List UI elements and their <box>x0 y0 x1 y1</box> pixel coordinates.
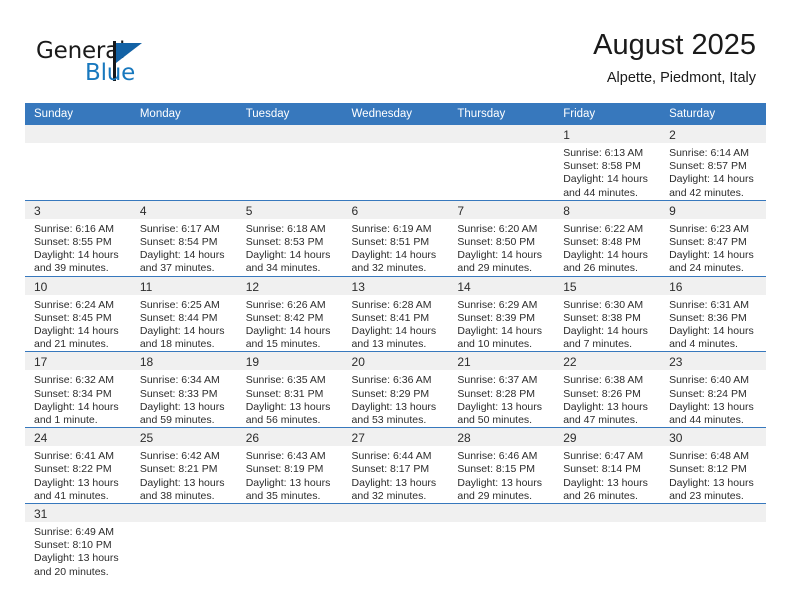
sunrise-text: Sunrise: 6:41 AM <box>34 450 125 463</box>
day-details: Sunrise: 6:14 AMSunset: 8:57 PMDaylight:… <box>660 143 766 200</box>
sunset-text: Sunset: 8:33 PM <box>140 388 231 401</box>
day-number <box>25 125 131 143</box>
day-number: 20 <box>343 352 449 370</box>
day-number: 22 <box>554 352 660 370</box>
calendar-week-row: 10Sunrise: 6:24 AMSunset: 8:45 PMDayligh… <box>25 276 766 352</box>
day-number: 8 <box>554 201 660 219</box>
calendar-week-row: 31Sunrise: 6:49 AMSunset: 8:10 PMDayligh… <box>25 504 766 579</box>
day-details: Sunrise: 6:36 AMSunset: 8:29 PMDaylight:… <box>343 370 449 427</box>
daylight-text-line2: and 32 minutes. <box>352 262 443 275</box>
sunset-text: Sunset: 8:22 PM <box>34 463 125 476</box>
daylight-text-line2: and 39 minutes. <box>34 262 125 275</box>
daylight-text-line1: Daylight: 14 hours <box>34 325 125 338</box>
daylight-text-line2: and 44 minutes. <box>669 414 760 427</box>
day-details: Sunrise: 6:42 AMSunset: 8:21 PMDaylight:… <box>131 446 237 503</box>
sunset-text: Sunset: 8:47 PM <box>669 236 760 249</box>
sunset-text: Sunset: 8:19 PM <box>246 463 337 476</box>
day-details: Sunrise: 6:34 AMSunset: 8:33 PMDaylight:… <box>131 370 237 427</box>
calendar-cell-day[interactable]: 27Sunrise: 6:44 AMSunset: 8:17 PMDayligh… <box>343 428 449 504</box>
day-number <box>343 504 449 522</box>
sunset-text: Sunset: 8:55 PM <box>34 236 125 249</box>
daylight-text-line1: Daylight: 14 hours <box>563 249 654 262</box>
weekday-header-wednesday: Wednesday <box>343 103 449 125</box>
day-number: 2 <box>660 125 766 143</box>
daylight-text-line2: and 13 minutes. <box>352 338 443 351</box>
sunrise-text: Sunrise: 6:38 AM <box>563 374 654 387</box>
daylight-text-line1: Daylight: 14 hours <box>34 249 125 262</box>
calendar-cell-empty <box>554 504 660 579</box>
day-number: 21 <box>448 352 554 370</box>
day-number: 10 <box>25 277 131 295</box>
daylight-text-line2: and 10 minutes. <box>457 338 548 351</box>
daylight-text-line1: Daylight: 13 hours <box>140 477 231 490</box>
daylight-text-line1: Daylight: 13 hours <box>563 401 654 414</box>
calendar-cell-day[interactable]: 29Sunrise: 6:47 AMSunset: 8:14 PMDayligh… <box>554 428 660 504</box>
sunrise-text: Sunrise: 6:37 AM <box>457 374 548 387</box>
calendar-cell-empty <box>131 504 237 579</box>
day-number: 25 <box>131 428 237 446</box>
day-details: Sunrise: 6:17 AMSunset: 8:54 PMDaylight:… <box>131 219 237 276</box>
day-details: Sunrise: 6:35 AMSunset: 8:31 PMDaylight:… <box>237 370 343 427</box>
calendar-cell-day[interactable]: 31Sunrise: 6:49 AMSunset: 8:10 PMDayligh… <box>25 504 131 579</box>
day-details: Sunrise: 6:29 AMSunset: 8:39 PMDaylight:… <box>448 295 554 352</box>
day-number: 14 <box>448 277 554 295</box>
daylight-text-line1: Daylight: 14 hours <box>457 325 548 338</box>
sunset-text: Sunset: 8:54 PM <box>140 236 231 249</box>
day-details: Sunrise: 6:26 AMSunset: 8:42 PMDaylight:… <box>237 295 343 352</box>
sunrise-text: Sunrise: 6:14 AM <box>669 147 760 160</box>
daylight-text-line2: and 15 minutes. <box>246 338 337 351</box>
day-details: Sunrise: 6:43 AMSunset: 8:19 PMDaylight:… <box>237 446 343 503</box>
day-details: Sunrise: 6:23 AMSunset: 8:47 PMDaylight:… <box>660 219 766 276</box>
daylight-text-line2: and 53 minutes. <box>352 414 443 427</box>
weekday-header-row: Sunday Monday Tuesday Wednesday Thursday… <box>25 103 766 125</box>
sunrise-text: Sunrise: 6:22 AM <box>563 223 654 236</box>
calendar-week-row: 24Sunrise: 6:41 AMSunset: 8:22 PMDayligh… <box>25 428 766 504</box>
sunrise-text: Sunrise: 6:31 AM <box>669 299 760 312</box>
sunrise-text: Sunrise: 6:43 AM <box>246 450 337 463</box>
day-details: Sunrise: 6:16 AMSunset: 8:55 PMDaylight:… <box>25 219 131 276</box>
day-details: Sunrise: 6:46 AMSunset: 8:15 PMDaylight:… <box>448 446 554 503</box>
calendar-week-row: 1Sunrise: 6:13 AMSunset: 8:58 PMDaylight… <box>25 125 766 200</box>
calendar-week-row: 17Sunrise: 6:32 AMSunset: 8:34 PMDayligh… <box>25 352 766 428</box>
calendar-cell-day[interactable]: 24Sunrise: 6:41 AMSunset: 8:22 PMDayligh… <box>25 428 131 504</box>
daylight-text-line2: and 35 minutes. <box>246 490 337 503</box>
calendar-cell-day[interactable]: 4Sunrise: 6:17 AMSunset: 8:54 PMDaylight… <box>131 200 237 276</box>
sunset-text: Sunset: 8:12 PM <box>669 463 760 476</box>
daylight-text-line1: Daylight: 14 hours <box>563 325 654 338</box>
day-details: Sunrise: 6:32 AMSunset: 8:34 PMDaylight:… <box>25 370 131 427</box>
calendar-cell-day[interactable]: 2Sunrise: 6:14 AMSunset: 8:57 PMDaylight… <box>660 125 766 200</box>
sunset-text: Sunset: 8:15 PM <box>457 463 548 476</box>
calendar-cell-empty <box>660 504 766 579</box>
sunset-text: Sunset: 8:51 PM <box>352 236 443 249</box>
weekday-header-tuesday: Tuesday <box>237 103 343 125</box>
calendar-week-row: 3Sunrise: 6:16 AMSunset: 8:55 PMDaylight… <box>25 200 766 276</box>
calendar-head: Sunday Monday Tuesday Wednesday Thursday… <box>25 103 766 125</box>
daylight-text-line2: and 34 minutes. <box>246 262 337 275</box>
sunset-text: Sunset: 8:34 PM <box>34 388 125 401</box>
sunset-text: Sunset: 8:28 PM <box>457 388 548 401</box>
daylight-text-line1: Daylight: 13 hours <box>246 477 337 490</box>
day-number: 17 <box>25 352 131 370</box>
day-number: 24 <box>25 428 131 446</box>
day-number: 12 <box>237 277 343 295</box>
daylight-text-line2: and 23 minutes. <box>669 490 760 503</box>
sunrise-text: Sunrise: 6:40 AM <box>669 374 760 387</box>
daylight-text-line1: Daylight: 14 hours <box>669 325 760 338</box>
calendar-cell-day[interactable]: 5Sunrise: 6:18 AMSunset: 8:53 PMDaylight… <box>237 200 343 276</box>
sunrise-text: Sunrise: 6:46 AM <box>457 450 548 463</box>
day-number: 27 <box>343 428 449 446</box>
weekday-header-monday: Monday <box>131 103 237 125</box>
day-number: 9 <box>660 201 766 219</box>
day-details: Sunrise: 6:28 AMSunset: 8:41 PMDaylight:… <box>343 295 449 352</box>
daylight-text-line1: Daylight: 13 hours <box>669 401 760 414</box>
sunrise-text: Sunrise: 6:36 AM <box>352 374 443 387</box>
daylight-text-line2: and 38 minutes. <box>140 490 231 503</box>
daylight-text-line2: and 32 minutes. <box>352 490 443 503</box>
day-number: 4 <box>131 201 237 219</box>
sunset-text: Sunset: 8:14 PM <box>563 463 654 476</box>
sunrise-text: Sunrise: 6:24 AM <box>34 299 125 312</box>
calendar-cell-day[interactable]: 20Sunrise: 6:36 AMSunset: 8:29 PMDayligh… <box>343 352 449 428</box>
sunrise-text: Sunrise: 6:26 AM <box>246 299 337 312</box>
day-number: 11 <box>131 277 237 295</box>
calendar-cell-day[interactable]: 30Sunrise: 6:48 AMSunset: 8:12 PMDayligh… <box>660 428 766 504</box>
daylight-text-line1: Daylight: 14 hours <box>457 249 548 262</box>
sunrise-text: Sunrise: 6:28 AM <box>352 299 443 312</box>
daylight-text-line2: and 7 minutes. <box>563 338 654 351</box>
daylight-text-line2: and 24 minutes. <box>669 262 760 275</box>
day-details: Sunrise: 6:44 AMSunset: 8:17 PMDaylight:… <box>343 446 449 503</box>
day-number <box>237 504 343 522</box>
sunset-text: Sunset: 8:44 PM <box>140 312 231 325</box>
logo-text-blue: Blue <box>85 60 135 86</box>
daylight-text-line1: Daylight: 13 hours <box>457 401 548 414</box>
sunset-text: Sunset: 8:29 PM <box>352 388 443 401</box>
daylight-text-line1: Daylight: 14 hours <box>140 325 231 338</box>
day-number <box>448 125 554 143</box>
calendar-grid: Sunday Monday Tuesday Wednesday Thursday… <box>25 103 766 579</box>
sunset-text: Sunset: 8:48 PM <box>563 236 654 249</box>
calendar-cell-empty <box>237 504 343 579</box>
sunrise-text: Sunrise: 6:18 AM <box>246 223 337 236</box>
day-number <box>343 125 449 143</box>
daylight-text-line2: and 44 minutes. <box>563 187 654 200</box>
calendar-cell-day[interactable]: 23Sunrise: 6:40 AMSunset: 8:24 PMDayligh… <box>660 352 766 428</box>
daylight-text-line1: Daylight: 13 hours <box>352 401 443 414</box>
sunset-text: Sunset: 8:50 PM <box>457 236 548 249</box>
calendar-cell-day[interactable]: 19Sunrise: 6:35 AMSunset: 8:31 PMDayligh… <box>237 352 343 428</box>
day-number: 15 <box>554 277 660 295</box>
calendar-cell-day[interactable]: 6Sunrise: 6:19 AMSunset: 8:51 PMDaylight… <box>343 200 449 276</box>
general-blue-logo[interactable]: General Blue <box>36 38 196 88</box>
daylight-text-line1: Daylight: 13 hours <box>246 401 337 414</box>
day-number <box>237 125 343 143</box>
calendar-cell-day[interactable]: 28Sunrise: 6:46 AMSunset: 8:15 PMDayligh… <box>448 428 554 504</box>
page-title: August 2025 <box>593 28 756 62</box>
calendar-body: 1Sunrise: 6:13 AMSunset: 8:58 PMDaylight… <box>25 125 766 579</box>
calendar-cell-empty <box>343 125 449 200</box>
sunset-text: Sunset: 8:41 PM <box>352 312 443 325</box>
calendar-cell-empty <box>237 125 343 200</box>
day-details: Sunrise: 6:31 AMSunset: 8:36 PMDaylight:… <box>660 295 766 352</box>
daylight-text-line1: Daylight: 14 hours <box>352 325 443 338</box>
sunset-text: Sunset: 8:53 PM <box>246 236 337 249</box>
day-number: 31 <box>25 504 131 522</box>
sunset-text: Sunset: 8:17 PM <box>352 463 443 476</box>
calendar-cell-day[interactable]: 3Sunrise: 6:16 AMSunset: 8:55 PMDaylight… <box>25 200 131 276</box>
daylight-text-line2: and 42 minutes. <box>669 187 760 200</box>
sunrise-text: Sunrise: 6:29 AM <box>457 299 548 312</box>
daylight-text-line2: and 47 minutes. <box>563 414 654 427</box>
calendar-cell-day[interactable]: 9Sunrise: 6:23 AMSunset: 8:47 PMDaylight… <box>660 200 766 276</box>
sunrise-text: Sunrise: 6:17 AM <box>140 223 231 236</box>
day-number <box>554 504 660 522</box>
day-details: Sunrise: 6:47 AMSunset: 8:14 PMDaylight:… <box>554 446 660 503</box>
daylight-text-line1: Daylight: 13 hours <box>563 477 654 490</box>
day-details: Sunrise: 6:49 AMSunset: 8:10 PMDaylight:… <box>25 522 131 579</box>
page-header: General Blue August 2025 Alpette, Piedmo… <box>0 0 792 100</box>
title-block: August 2025 Alpette, Piedmont, Italy <box>593 28 756 88</box>
daylight-text-line1: Daylight: 13 hours <box>34 552 125 565</box>
day-number: 6 <box>343 201 449 219</box>
page-subtitle: Alpette, Piedmont, Italy <box>593 68 756 88</box>
day-details: Sunrise: 6:18 AMSunset: 8:53 PMDaylight:… <box>237 219 343 276</box>
daylight-text-line2: and 1 minute. <box>34 414 125 427</box>
day-number: 26 <box>237 428 343 446</box>
day-details: Sunrise: 6:38 AMSunset: 8:26 PMDaylight:… <box>554 370 660 427</box>
sunset-text: Sunset: 8:31 PM <box>246 388 337 401</box>
daylight-text-line1: Daylight: 14 hours <box>669 249 760 262</box>
sunset-text: Sunset: 8:57 PM <box>669 160 760 173</box>
calendar-cell-day[interactable]: 10Sunrise: 6:24 AMSunset: 8:45 PMDayligh… <box>25 276 131 352</box>
day-details: Sunrise: 6:30 AMSunset: 8:38 PMDaylight:… <box>554 295 660 352</box>
calendar-cell-day[interactable]: 8Sunrise: 6:22 AMSunset: 8:48 PMDaylight… <box>554 200 660 276</box>
daylight-text-line1: Daylight: 13 hours <box>34 477 125 490</box>
calendar-cell-day[interactable]: 17Sunrise: 6:32 AMSunset: 8:34 PMDayligh… <box>25 352 131 428</box>
calendar-cell-day[interactable]: 7Sunrise: 6:20 AMSunset: 8:50 PMDaylight… <box>448 200 554 276</box>
calendar-cell-empty <box>448 504 554 579</box>
calendar-cell-day[interactable]: 26Sunrise: 6:43 AMSunset: 8:19 PMDayligh… <box>237 428 343 504</box>
day-number <box>131 504 237 522</box>
day-details: Sunrise: 6:13 AMSunset: 8:58 PMDaylight:… <box>554 143 660 200</box>
calendar-cell-day[interactable]: 18Sunrise: 6:34 AMSunset: 8:33 PMDayligh… <box>131 352 237 428</box>
daylight-text-line1: Daylight: 14 hours <box>246 249 337 262</box>
day-details: Sunrise: 6:24 AMSunset: 8:45 PMDaylight:… <box>25 295 131 352</box>
sunset-text: Sunset: 8:38 PM <box>563 312 654 325</box>
sunset-text: Sunset: 8:39 PM <box>457 312 548 325</box>
calendar-cell-day[interactable]: 11Sunrise: 6:25 AMSunset: 8:44 PMDayligh… <box>131 276 237 352</box>
calendar-cell-day[interactable]: 14Sunrise: 6:29 AMSunset: 8:39 PMDayligh… <box>448 276 554 352</box>
calendar-cell-day[interactable]: 25Sunrise: 6:42 AMSunset: 8:21 PMDayligh… <box>131 428 237 504</box>
daylight-text-line1: Daylight: 13 hours <box>669 477 760 490</box>
day-details: Sunrise: 6:48 AMSunset: 8:12 PMDaylight:… <box>660 446 766 503</box>
sunrise-text: Sunrise: 6:16 AM <box>34 223 125 236</box>
sunset-text: Sunset: 8:36 PM <box>669 312 760 325</box>
day-details: Sunrise: 6:25 AMSunset: 8:44 PMDaylight:… <box>131 295 237 352</box>
sunrise-text: Sunrise: 6:34 AM <box>140 374 231 387</box>
calendar-cell-day[interactable]: 16Sunrise: 6:31 AMSunset: 8:36 PMDayligh… <box>660 276 766 352</box>
day-number: 18 <box>131 352 237 370</box>
day-number <box>131 125 237 143</box>
sunrise-text: Sunrise: 6:19 AM <box>352 223 443 236</box>
daylight-text-line1: Daylight: 13 hours <box>140 401 231 414</box>
calendar-page: General Blue August 2025 Alpette, Piedmo… <box>0 0 792 612</box>
day-number: 23 <box>660 352 766 370</box>
day-details: Sunrise: 6:19 AMSunset: 8:51 PMDaylight:… <box>343 219 449 276</box>
sunrise-text: Sunrise: 6:32 AM <box>34 374 125 387</box>
calendar-cell-day[interactable]: 12Sunrise: 6:26 AMSunset: 8:42 PMDayligh… <box>237 276 343 352</box>
daylight-text-line1: Daylight: 13 hours <box>352 477 443 490</box>
sunset-text: Sunset: 8:58 PM <box>563 160 654 173</box>
day-number: 7 <box>448 201 554 219</box>
day-number <box>660 504 766 522</box>
sunrise-text: Sunrise: 6:35 AM <box>246 374 337 387</box>
calendar-cell-day[interactable]: 21Sunrise: 6:37 AMSunset: 8:28 PMDayligh… <box>448 352 554 428</box>
calendar-cell-empty <box>343 504 449 579</box>
day-number <box>448 504 554 522</box>
sunrise-text: Sunrise: 6:48 AM <box>669 450 760 463</box>
daylight-text-line2: and 59 minutes. <box>140 414 231 427</box>
daylight-text-line1: Daylight: 14 hours <box>352 249 443 262</box>
calendar-table: Sunday Monday Tuesday Wednesday Thursday… <box>25 103 766 579</box>
daylight-text-line2: and 50 minutes. <box>457 414 548 427</box>
sunrise-text: Sunrise: 6:13 AM <box>563 147 654 160</box>
daylight-text-line2: and 37 minutes. <box>140 262 231 275</box>
calendar-cell-day[interactable]: 15Sunrise: 6:30 AMSunset: 8:38 PMDayligh… <box>554 276 660 352</box>
daylight-text-line2: and 4 minutes. <box>669 338 760 351</box>
calendar-cell-empty <box>25 125 131 200</box>
day-number: 1 <box>554 125 660 143</box>
day-details: Sunrise: 6:22 AMSunset: 8:48 PMDaylight:… <box>554 219 660 276</box>
daylight-text-line1: Daylight: 14 hours <box>669 173 760 186</box>
daylight-text-line2: and 18 minutes. <box>140 338 231 351</box>
daylight-text-line2: and 20 minutes. <box>34 566 125 579</box>
calendar-cell-day[interactable]: 1Sunrise: 6:13 AMSunset: 8:58 PMDaylight… <box>554 125 660 200</box>
daylight-text-line2: and 26 minutes. <box>563 262 654 275</box>
sunrise-text: Sunrise: 6:47 AM <box>563 450 654 463</box>
sunrise-text: Sunrise: 6:30 AM <box>563 299 654 312</box>
daylight-text-line1: Daylight: 14 hours <box>34 401 125 414</box>
sunrise-text: Sunrise: 6:44 AM <box>352 450 443 463</box>
day-number: 30 <box>660 428 766 446</box>
daylight-text-line1: Daylight: 14 hours <box>563 173 654 186</box>
sunrise-text: Sunrise: 6:20 AM <box>457 223 548 236</box>
sunset-text: Sunset: 8:26 PM <box>563 388 654 401</box>
daylight-text-line1: Daylight: 14 hours <box>140 249 231 262</box>
daylight-text-line2: and 29 minutes. <box>457 262 548 275</box>
calendar-cell-day[interactable]: 13Sunrise: 6:28 AMSunset: 8:41 PMDayligh… <box>343 276 449 352</box>
weekday-header-friday: Friday <box>554 103 660 125</box>
daylight-text-line2: and 21 minutes. <box>34 338 125 351</box>
daylight-text-line2: and 26 minutes. <box>563 490 654 503</box>
sunset-text: Sunset: 8:21 PM <box>140 463 231 476</box>
sunset-text: Sunset: 8:42 PM <box>246 312 337 325</box>
sunset-text: Sunset: 8:24 PM <box>669 388 760 401</box>
daylight-text-line1: Daylight: 13 hours <box>457 477 548 490</box>
sunrise-text: Sunrise: 6:23 AM <box>669 223 760 236</box>
calendar-cell-empty <box>131 125 237 200</box>
day-number: 3 <box>25 201 131 219</box>
day-number: 5 <box>237 201 343 219</box>
day-number: 29 <box>554 428 660 446</box>
day-number: 19 <box>237 352 343 370</box>
day-number: 13 <box>343 277 449 295</box>
sunset-text: Sunset: 8:45 PM <box>34 312 125 325</box>
day-details: Sunrise: 6:20 AMSunset: 8:50 PMDaylight:… <box>448 219 554 276</box>
daylight-text-line1: Daylight: 14 hours <box>246 325 337 338</box>
calendar-cell-empty <box>448 125 554 200</box>
calendar-cell-day[interactable]: 22Sunrise: 6:38 AMSunset: 8:26 PMDayligh… <box>554 352 660 428</box>
sunrise-text: Sunrise: 6:49 AM <box>34 526 125 539</box>
sunrise-text: Sunrise: 6:25 AM <box>140 299 231 312</box>
weekday-header-sunday: Sunday <box>25 103 131 125</box>
daylight-text-line2: and 29 minutes. <box>457 490 548 503</box>
day-number: 16 <box>660 277 766 295</box>
sunset-text: Sunset: 8:10 PM <box>34 539 125 552</box>
daylight-text-line2: and 56 minutes. <box>246 414 337 427</box>
daylight-text-line2: and 41 minutes. <box>34 490 125 503</box>
weekday-header-thursday: Thursday <box>448 103 554 125</box>
weekday-header-saturday: Saturday <box>660 103 766 125</box>
day-details: Sunrise: 6:41 AMSunset: 8:22 PMDaylight:… <box>25 446 131 503</box>
day-details: Sunrise: 6:37 AMSunset: 8:28 PMDaylight:… <box>448 370 554 427</box>
day-number: 28 <box>448 428 554 446</box>
sunrise-text: Sunrise: 6:42 AM <box>140 450 231 463</box>
day-details: Sunrise: 6:40 AMSunset: 8:24 PMDaylight:… <box>660 370 766 427</box>
